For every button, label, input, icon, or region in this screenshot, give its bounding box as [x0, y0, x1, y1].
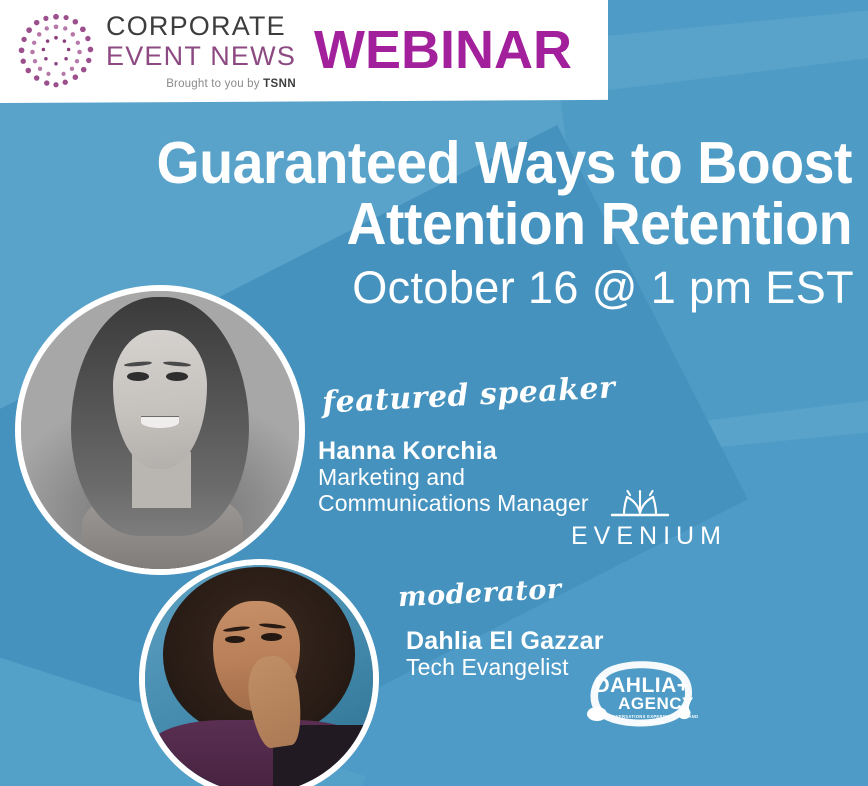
speaker-photo-eye-right	[166, 372, 188, 381]
evenium-logo: EVENIUM	[565, 487, 715, 549]
logo-wordmark: CORPORATE EVENT NEWS Brought to you by T…	[106, 13, 296, 91]
header-band: CORPORATE EVENT NEWS Brought to you by T…	[0, 0, 608, 103]
logo-tagline-tsnn: TSNN	[263, 78, 296, 90]
webinar-promo-poster: CORPORATE EVENT NEWS Brought to you by T…	[0, 0, 868, 786]
logo-tagline-prefix: Brought to you by	[166, 78, 263, 90]
dahlia-micro-tagline: CONVERSATIONS EXPERIENCE • BRAND CREATIV…	[583, 714, 711, 725]
speaker-name: Hanna Korchia	[318, 437, 589, 465]
speaker-portrait	[15, 285, 305, 575]
speaker-title-line-2: Communications Manager	[318, 491, 589, 517]
headline-line-2: Attention Retention	[51, 194, 852, 255]
headline-line-1: Guaranteed Ways to Boost	[51, 133, 852, 194]
webinar-label: WEBINAR	[314, 23, 572, 81]
speaker-title-line-1: Marketing and	[318, 465, 589, 491]
logo-line-corporate: CORPORATE	[106, 13, 296, 40]
dahlia-wordmark: DAHLIA+	[583, 675, 701, 696]
dotted-circle-logo-icon	[14, 10, 98, 94]
speaker-info: Hanna Korchia Marketing and Communicatio…	[318, 437, 589, 517]
moderator-info: Dahlia El Gazzar Tech Evangelist	[406, 627, 604, 681]
page-title: Guaranteed Ways to Boost Attention Reten…	[51, 133, 852, 255]
logo-tagline: Brought to you by TSNN	[106, 79, 296, 91]
moderator-portrait	[139, 559, 379, 786]
speaker-photo-eye-left	[127, 372, 149, 381]
logo-line-event-news: EVENT NEWS	[106, 43, 296, 70]
dahlia-agency-word: AGENCY	[583, 695, 715, 712]
evenium-crown-icon	[600, 487, 680, 523]
moderator-photo-image	[145, 565, 373, 786]
moderator-title: Tech Evangelist	[406, 655, 604, 681]
speaker-photo-image	[21, 291, 299, 569]
moderator-name: Dahlia El Gazzar	[406, 627, 604, 655]
evenium-wordmark: EVENIUM	[565, 524, 715, 549]
moderator-photo-eye-right	[261, 633, 282, 641]
dahlia-agency-logo: DAHLIA+ AGENCY CONVERSATIONS EXPERIENCE …	[583, 657, 701, 729]
corporate-event-news-logo: CORPORATE EVENT NEWS Brought to you by T…	[0, 10, 296, 94]
